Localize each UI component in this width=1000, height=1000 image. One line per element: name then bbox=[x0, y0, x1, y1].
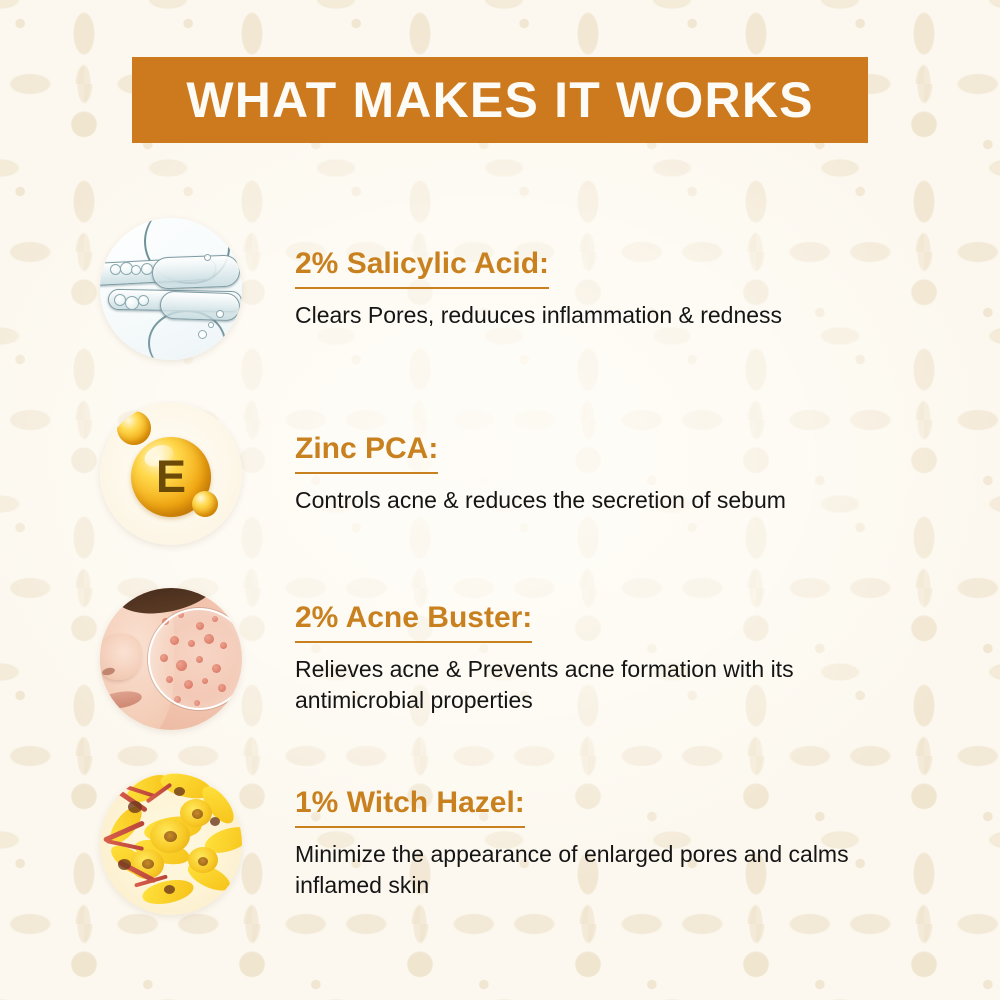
witch-hazel-flower-icon bbox=[100, 773, 242, 915]
ingredient-thumbnail-acne-buster bbox=[100, 588, 242, 730]
ingredient-copy: 2% Acne Buster: Relieves acne & Prevents… bbox=[295, 601, 930, 715]
page-title: WHAT MAKES IT WORKS bbox=[186, 71, 813, 129]
ingredient-copy: Zinc PCA: Controls acne & reduces the se… bbox=[295, 432, 930, 516]
list-item: 2% Acne Buster: Relieves acne & Prevents… bbox=[0, 566, 1000, 751]
ingredient-copy: 1% Witch Hazel: Minimize the appearance … bbox=[295, 786, 930, 900]
ingredient-description: Controls acne & reduces the secretion of… bbox=[295, 485, 895, 516]
capsule-letter: E bbox=[131, 437, 211, 517]
ingredient-copy: 2% Salicylic Acid: Clears Pores, reduuce… bbox=[295, 247, 930, 331]
ingredient-thumbnail-witch-hazel bbox=[100, 773, 242, 915]
ingredient-list: 2% Salicylic Acid: Clears Pores, reduuce… bbox=[0, 196, 1000, 936]
ingredient-title: 2% Acne Buster: bbox=[295, 601, 532, 643]
list-item: 2% Salicylic Acid: Clears Pores, reduuce… bbox=[0, 196, 1000, 381]
list-item: 1% Witch Hazel: Minimize the appearance … bbox=[0, 751, 1000, 936]
clear-gel-icon bbox=[100, 218, 242, 360]
ingredient-thumbnail-salicylic-acid bbox=[100, 218, 242, 360]
ingredient-benefits-poster: WHAT MAKES IT WORKS bbox=[0, 0, 1000, 1000]
acne-skin-icon bbox=[100, 588, 242, 730]
ingredient-title: 1% Witch Hazel: bbox=[295, 786, 525, 828]
header-banner: WHAT MAKES IT WORKS bbox=[132, 57, 868, 143]
magnifier-ring-icon bbox=[148, 608, 242, 710]
list-item: E Zinc PCA: Controls acne & reduces the … bbox=[0, 381, 1000, 566]
ingredient-description: Clears Pores, reduuces inflammation & re… bbox=[295, 300, 895, 331]
ingredient-thumbnail-zinc-pca: E bbox=[100, 403, 242, 545]
ingredient-description: Minimize the appearance of enlarged pore… bbox=[295, 839, 895, 900]
ingredient-description: Relieves acne & Prevents acne formation … bbox=[295, 654, 895, 715]
ingredient-title: Zinc PCA: bbox=[295, 432, 438, 474]
vitamin-capsule-icon: E bbox=[100, 403, 242, 545]
ingredient-title: 2% Salicylic Acid: bbox=[295, 247, 549, 289]
